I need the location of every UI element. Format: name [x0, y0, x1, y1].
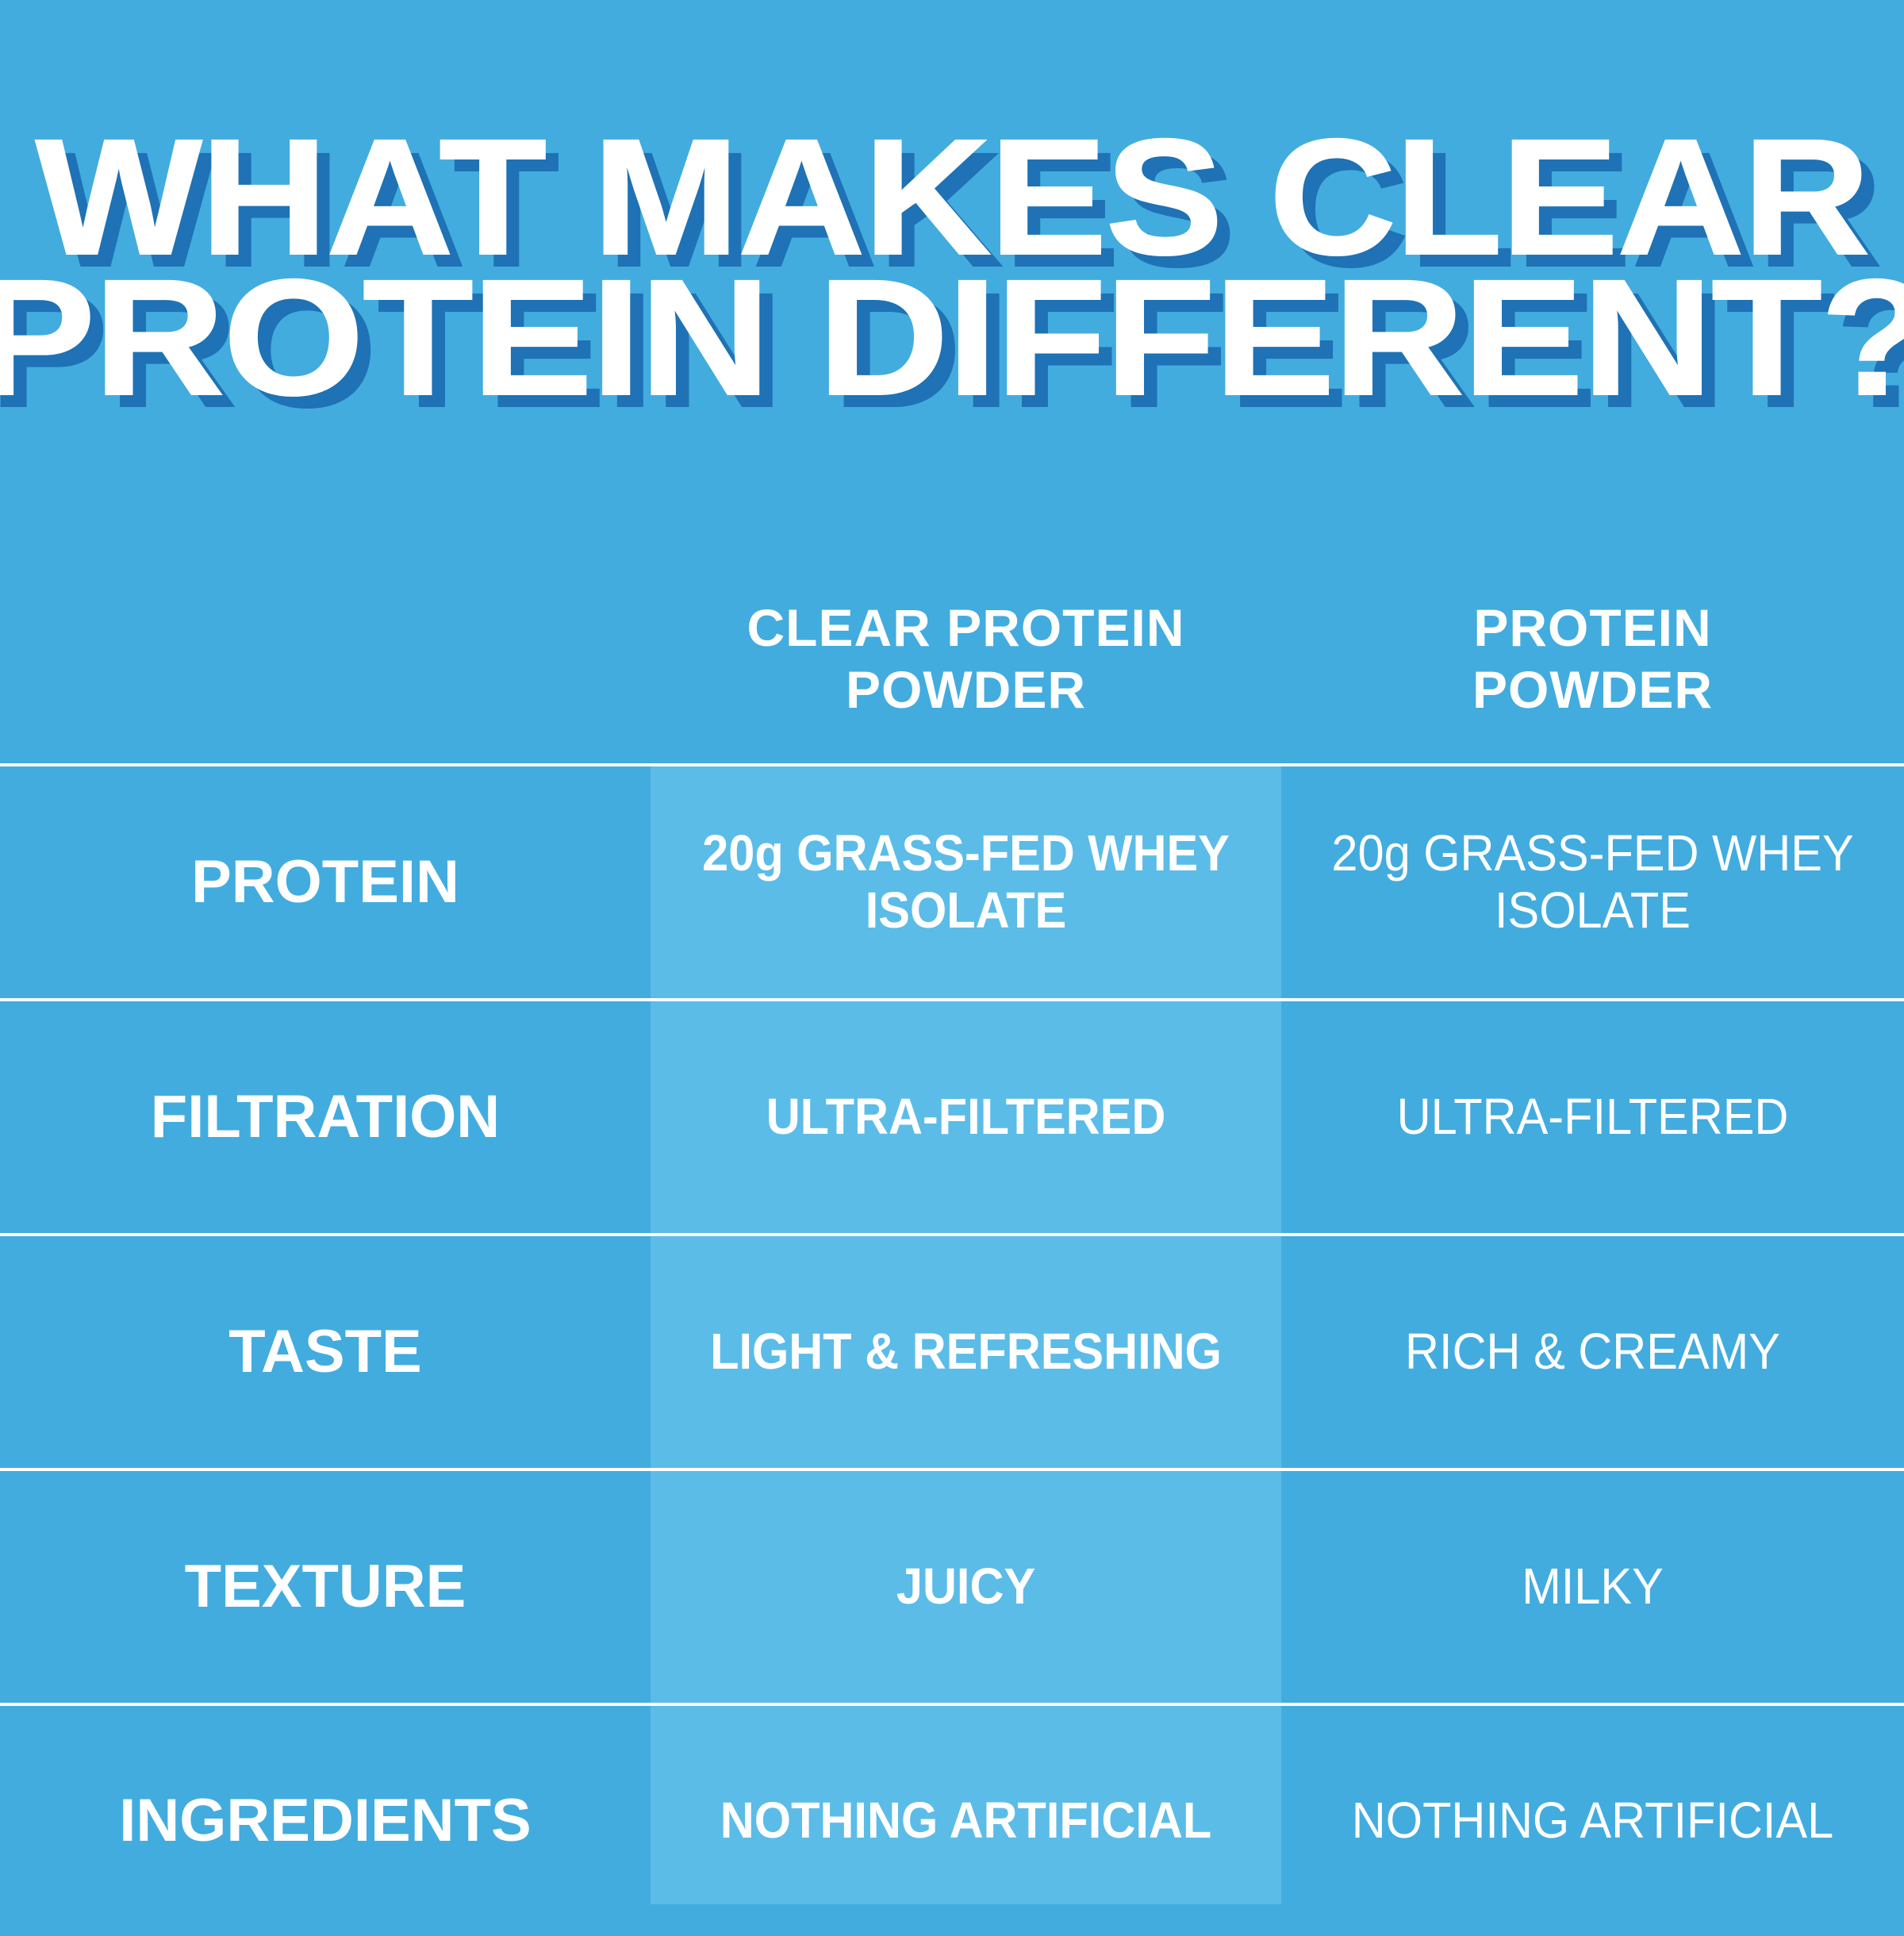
table-row: TEXTURE JUICY MILKY	[0, 1471, 1904, 1703]
header-clear-protein-powder: CLEAR PROTEIN POWDER	[651, 597, 1281, 721]
row-value-regular-protein: 20g GRASS-FED WHEY ISOLATE	[1303, 825, 1882, 939]
table-row: INGREDIENTS NOTHING ARTIFICIAL NOTHING A…	[0, 1706, 1904, 1936]
row-value-regular-texture: MILKY	[1303, 1558, 1882, 1615]
row-divider	[0, 1703, 1904, 1706]
row-value-regular-taste: RICH & CREAMY	[1303, 1323, 1882, 1381]
header-clear-protein-powder-line1: CLEAR PROTEIN	[651, 597, 1281, 659]
row-label-filtration: FILTRATION	[0, 1085, 651, 1149]
header-protein-powder: PROTEIN POWDER	[1281, 597, 1904, 721]
row-divider	[0, 998, 1904, 1001]
row-label-texture: TEXTURE	[0, 1555, 651, 1619]
header-clear-protein-powder-line2: POWDER	[651, 659, 1281, 721]
row-value-regular-ingredients: NOTHING ARTIFICIAL	[1303, 1792, 1882, 1850]
table-row: TASTE LIGHT & REFRESHING RICH & CREAMY	[0, 1236, 1904, 1468]
headline-line-2: PROTEIN DIFFERENT?	[0, 244, 1904, 433]
row-label-protein: PROTEIN	[0, 851, 651, 914]
row-value-clear-taste: LIGHT & REFRESHING	[673, 1323, 1259, 1381]
row-label-ingredients: INGREDIENTS	[0, 1789, 651, 1853]
row-divider	[0, 1468, 1904, 1471]
table-header-row: CLEAR PROTEIN POWDER PROTEIN POWDER	[0, 555, 1904, 763]
row-value-clear-protein: 20g GRASS-FED WHEY ISOLATE	[673, 825, 1259, 939]
row-value-clear-ingredients: NOTHING ARTIFICIAL	[673, 1792, 1259, 1850]
header-protein-powder-line2: POWDER	[1281, 659, 1904, 721]
row-divider	[0, 1233, 1904, 1236]
row-divider	[0, 763, 1904, 766]
header-protein-powder-line1: PROTEIN	[1281, 597, 1904, 659]
comparison-table: CLEAR PROTEIN POWDER PROTEIN POWDER PROT…	[0, 555, 1904, 1936]
row-value-clear-filtration: ULTRA-FILTERED	[673, 1089, 1259, 1146]
headline-block: WHAT MAKES CLEAR PROTEIN DIFFERENT?	[0, 0, 1904, 555]
row-label-taste: TASTE	[0, 1320, 651, 1384]
table-row: PROTEIN 20g GRASS-FED WHEY ISOLATE 20g G…	[0, 766, 1904, 998]
row-value-regular-filtration: ULTRA-FILTERED	[1303, 1089, 1882, 1146]
row-value-clear-texture: JUICY	[673, 1558, 1259, 1615]
table-row: FILTRATION ULTRA-FILTERED ULTRA-FILTERED	[0, 1001, 1904, 1233]
